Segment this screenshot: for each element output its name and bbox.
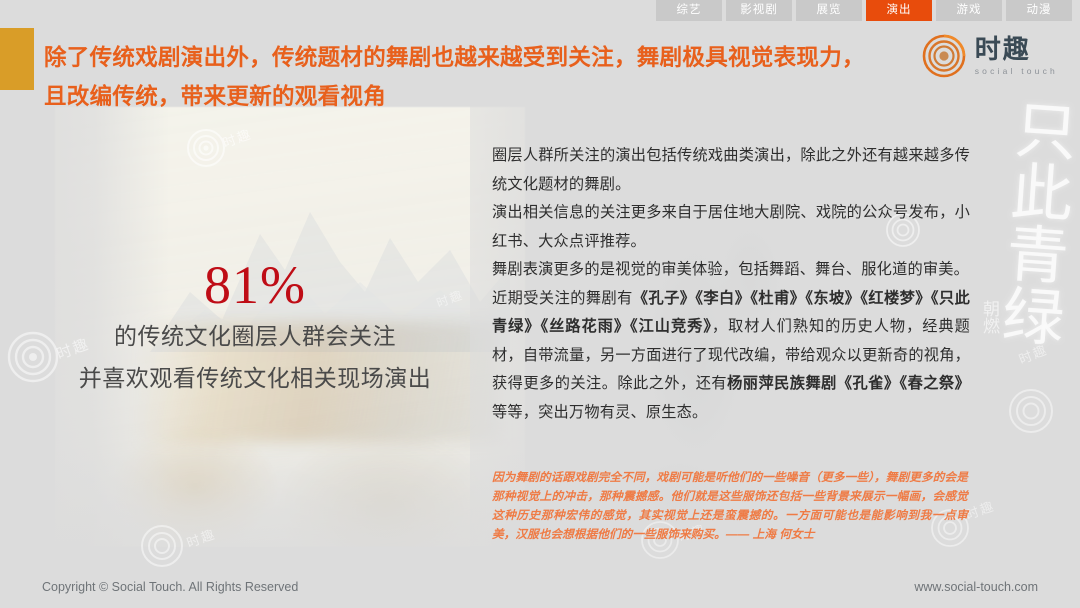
category-nav[interactable]: 综艺 影视剧 展览 演出 游戏 动漫 — [0, 0, 1080, 22]
page-title-line-1: 除了传统戏剧演出外，传统题材的舞剧也越来越受到关注，舞剧极具视觉表现力， — [44, 38, 944, 77]
footer-copyright: Copyright © Social Touch. All Rights Res… — [42, 580, 298, 594]
footer-website[interactable]: www.social-touch.com — [914, 580, 1038, 594]
nav-item-zongyi[interactable]: 综艺 — [656, 0, 722, 21]
nav-item-youxi[interactable]: 游戏 — [936, 0, 1002, 21]
stat-caption-line-2: 并喜欢观看传统文化相关现场演出 — [30, 357, 480, 399]
slide-footer: Copyright © Social Touch. All Rights Res… — [0, 566, 1080, 608]
nav-item-yanchu[interactable]: 演出 — [866, 0, 932, 21]
quote-attribution: —— 上海 何女士 — [726, 528, 815, 541]
brand-name-en: social touch — [975, 66, 1058, 76]
interview-quote: 因为舞剧的话跟戏剧完全不同，戏剧可能是听他们的一些噪音（更多一些），舞剧更多的会… — [492, 468, 968, 544]
nav-item-zhanlan[interactable]: 展览 — [796, 0, 862, 21]
body-paragraph-with-titles: 近期受关注的舞剧有《孔子》《李白》《杜甫》《东坡》《红楼梦》《只此青绿》《丝路花… — [492, 285, 970, 428]
brand-name-cn: 时趣 — [975, 37, 1058, 63]
presentation-slide: 时趣 时趣 时趣 时趣 — [0, 0, 1080, 608]
rich-seg-3: 等等，突出万物有灵、原生态。 — [492, 404, 707, 421]
nav-item-dongman[interactable]: 动漫 — [1006, 0, 1072, 21]
nav-item-yingshiju[interactable]: 影视剧 — [726, 0, 792, 21]
body-text-panel: 圈层人群所关注的演出包括传统戏曲类演出，除此之外还有越来越多传统文化题材的舞剧。… — [492, 142, 970, 427]
brand-logo: 时趣 social touch — [922, 34, 1058, 78]
rich-bold-yangliping: 杨丽萍民族舞剧《孔雀》《春之祭》 — [727, 375, 970, 392]
stat-percentage: 81% — [30, 255, 480, 315]
stat-panel: 81% 的传统文化圈层人群会关注 并喜欢观看传统文化相关现场演出 — [30, 255, 480, 399]
stat-caption-line-1: 的传统文化圈层人群会关注 — [30, 315, 480, 357]
page-title: 除了传统戏剧演出外，传统题材的舞剧也越来越受到关注，舞剧极具视觉表现力， 且改编… — [44, 38, 944, 116]
body-paragraph: 舞剧表演更多的是视觉的审美体验，包括舞蹈、舞台、服化道的审美。 — [492, 256, 970, 285]
concentric-rings-logo-icon — [922, 34, 966, 78]
title-accent-bar — [0, 28, 34, 90]
brand-wordmark: 时趣 social touch — [975, 37, 1058, 76]
page-title-line-2: 且改编传统，带来更新的观看视角 — [44, 77, 944, 116]
body-paragraph: 演出相关信息的关注更多来自于居住地大剧院、戏院的公众号发布，小红书、大众点评推荐… — [492, 199, 970, 256]
body-paragraph: 圈层人群所关注的演出包括传统戏曲类演出，除此之外还有越来越多传统文化题材的舞剧。 — [492, 142, 970, 199]
rich-seg-1: 近期受关注的舞剧有 — [492, 290, 633, 307]
